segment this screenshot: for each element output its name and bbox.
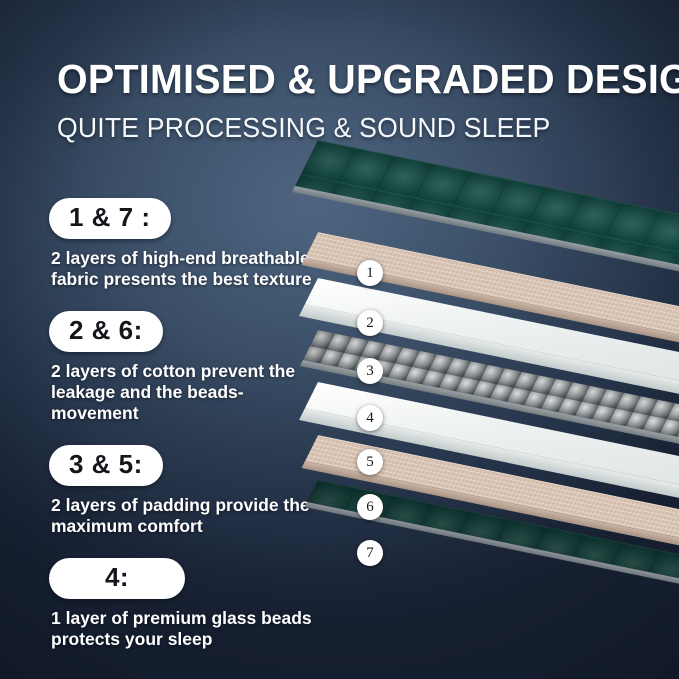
- feature-pill-2: 2 & 6:: [49, 311, 163, 352]
- layer-badge-6: 6: [357, 494, 383, 520]
- infographic-poster: 1 2 3 4 5 6 7 OPTIMISED & UPGRADED DESIG…: [0, 0, 679, 679]
- feature-pill-label: 3 & 5:: [69, 449, 143, 479]
- feature-pill-label: 2 & 6:: [69, 315, 143, 345]
- layer-badge-7: 7: [357, 540, 383, 566]
- badge-label: 1: [366, 265, 374, 282]
- feature-pill-label: 4:: [105, 562, 129, 592]
- feature-pill-4: 4:: [49, 558, 185, 599]
- header: OPTIMISED & UPGRADED DESIGN QUITE PROCES…: [57, 56, 637, 144]
- badge-label: 4: [366, 410, 374, 427]
- feature-pill-1: 1 & 7 :: [49, 198, 171, 239]
- layer-stack-diagram: 1 2 3 4 5 6 7: [318, 150, 679, 650]
- badge-label: 6: [366, 499, 374, 516]
- feature-pill-label: 1 & 7 :: [69, 202, 151, 232]
- layer-badge-2: 2: [357, 310, 383, 336]
- badge-label: 2: [366, 315, 374, 332]
- layer-badge-3: 3: [357, 358, 383, 384]
- layer-badge-5: 5: [357, 449, 383, 475]
- page-subtitle: QUITE PROCESSING & SOUND SLEEP: [57, 112, 608, 144]
- page-title: OPTIMISED & UPGRADED DESIGN: [57, 56, 614, 102]
- badge-label: 5: [366, 454, 374, 471]
- layer-badge-1: 1: [357, 260, 383, 286]
- badge-label: 7: [366, 545, 374, 562]
- feature-pill-3: 3 & 5:: [49, 445, 163, 486]
- badge-label: 3: [366, 363, 374, 380]
- layer-badge-4: 4: [357, 405, 383, 431]
